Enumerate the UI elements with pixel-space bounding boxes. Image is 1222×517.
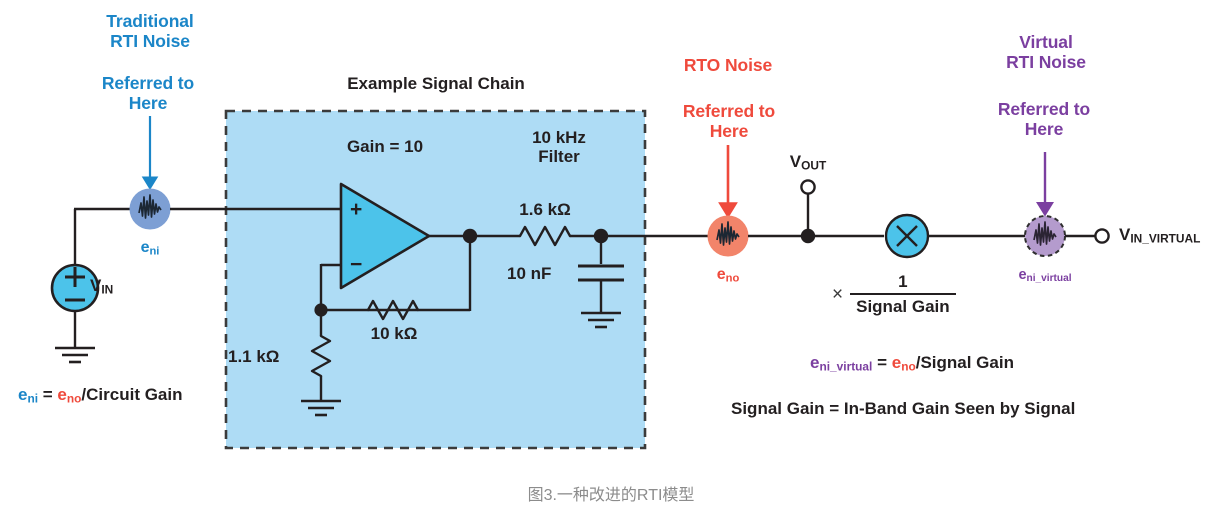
fraction-numerator: 1 (850, 272, 956, 293)
capacitor-filter-label: 10 nF (507, 264, 551, 283)
vin-label-base: V (90, 276, 101, 295)
equation-eni-virtual-tail: /Signal Gain (916, 353, 1014, 372)
equation-eni-virtual-rhs-base: e (892, 353, 901, 372)
equation-eni-virtual-lhs-sub: ni_virtual (819, 360, 872, 374)
rto-title: RTO Noise (684, 56, 772, 76)
figure-rti-model: Traditional RTI Noise Referred to Here R… (0, 0, 1222, 517)
equation-eni-rhs-base: e (57, 385, 66, 404)
vin-label: VIN (90, 276, 113, 297)
equation-eni-rhs-sub: no (67, 392, 82, 406)
vin-label-sub: IN (101, 283, 113, 297)
traditional-rti-title-line1: Traditional (106, 12, 193, 32)
virtual-rti-referred-line1: Referred to (998, 100, 1090, 120)
gain-label: Gain = 10 (347, 137, 423, 156)
eno-label-sub: no (726, 272, 740, 284)
eni-label-sub: ni (149, 245, 159, 257)
resistor-filter-label: 1.6 kΩ (519, 200, 570, 219)
virtual-rti-title-line1: Virtual (1006, 33, 1086, 53)
rto-referred: Referred to Here (683, 102, 775, 141)
eni-virtual-label-sub: ni_virtual (1027, 273, 1072, 284)
vin-virtual-label: VIN_VIRTUAL (1119, 225, 1200, 246)
eno-label-base: e (717, 266, 726, 283)
eni-virtual-label: eni_virtual (1018, 267, 1071, 285)
eni-virtual-label-base: e (1018, 267, 1026, 283)
figure-caption: 图3.一种改进的RTI模型 (0, 481, 1222, 505)
traditional-rti-referred-line2: Here (102, 94, 194, 114)
multiply-sign: × (832, 284, 843, 306)
filter-label: 10 kHz Filter (532, 128, 586, 166)
virtual-rti-title-line2: RTI Noise (1006, 53, 1086, 73)
equation-signal-gain: Signal Gain = In-Band Gain Seen by Signa… (731, 399, 1075, 418)
virtual-rti-title: Virtual RTI Noise (1006, 33, 1086, 72)
traditional-rti-title-line2: RTI Noise (106, 32, 193, 52)
vin-virtual-label-base: V (1119, 225, 1130, 244)
vout-label: VOUT (790, 152, 826, 173)
vin-virtual-label-sub: IN_VIRTUAL (1130, 232, 1200, 246)
equation-eni-virtual-rhs-sub: no (901, 360, 916, 374)
node-inverting (314, 303, 327, 316)
eni-label-base: e (141, 239, 150, 256)
vout-label-base: V (790, 152, 801, 171)
resistor-feedback-label: 10 kΩ (371, 324, 418, 343)
resistor-gain-label: 1.1 kΩ (228, 347, 279, 366)
eni-label: eni (141, 239, 160, 258)
opamp-inverting-input-sign: − (350, 253, 362, 277)
equation-eni: eni = eno/Circuit Gain (18, 385, 183, 406)
rto-title-line1: RTO Noise (684, 56, 772, 76)
rto-referred-line1: Referred to (683, 102, 775, 122)
traditional-rti-referred-line1: Referred to (102, 74, 194, 94)
traditional-rti-referred: Referred to Here (102, 74, 194, 113)
vout-terminal (801, 180, 814, 193)
node-opamp-output (463, 229, 477, 243)
filter-label-line1: 10 kHz (532, 128, 586, 147)
eno-label: eno (717, 266, 740, 285)
node-vout (801, 229, 815, 243)
equation-eni-tail: /Circuit Gain (81, 385, 182, 404)
fraction-denominator: Signal Gain (850, 293, 956, 317)
signal-chain-title: Example Signal Chain (347, 74, 525, 93)
fraction-body: 1 Signal Gain (850, 272, 956, 317)
vin-virtual-terminal (1095, 229, 1108, 242)
equation-eni-virtual: eni_virtual = eno/Signal Gain (810, 353, 1014, 374)
equation-eni-virtual-equals: = (872, 353, 891, 372)
signal-gain-fraction: × 1 Signal Gain (832, 272, 956, 317)
opamp-noninverting-input-sign: + (350, 198, 362, 222)
ground-vin (55, 348, 95, 362)
traditional-rti-title: Traditional RTI Noise (106, 12, 193, 51)
vout-label-sub: OUT (801, 159, 826, 173)
filter-label-line2: Filter (532, 147, 586, 166)
equation-eni-lhs-sub: ni (27, 392, 38, 406)
virtual-rti-referred-line2: Here (998, 120, 1090, 140)
virtual-rti-referred: Referred to Here (998, 100, 1090, 139)
rto-referred-line2: Here (683, 122, 775, 142)
equation-eni-equals: = (38, 385, 57, 404)
